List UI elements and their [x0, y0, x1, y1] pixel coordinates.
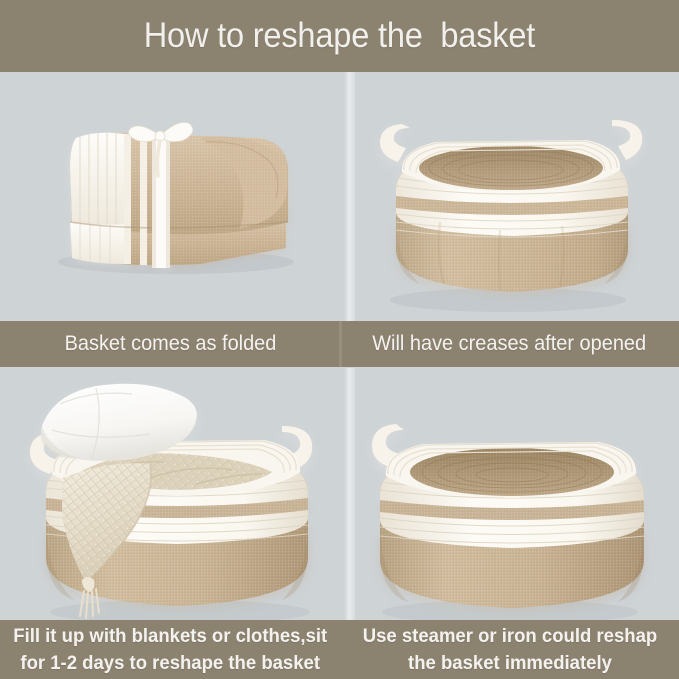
caption-divider: [339, 321, 342, 367]
caption-filled-text: Fill it up with blankets or clothes,sit …: [13, 623, 327, 677]
caption-filled: Fill it up with blankets or clothes,sit …: [0, 620, 340, 679]
panel-creased: [340, 72, 679, 321]
caption-folded-text: Basket comes as folded: [64, 330, 276, 359]
creased-basket-image: [340, 72, 679, 321]
infographic-root: How to reshape the basket: [0, 0, 679, 679]
title-bar: How to reshape the basket: [0, 0, 679, 72]
caption-steamed: Use steamer or iron could reshap the bas…: [340, 620, 679, 679]
caption-steamed-text: Use steamer or iron could reshap the bas…: [362, 623, 656, 677]
caption-creased-text: Will have creases after opened: [373, 330, 647, 359]
caption-creased: Will have creases after opened: [340, 321, 679, 367]
panel-filled: [0, 368, 340, 620]
steamed-basket-image: [340, 368, 679, 620]
panel-steamed: [340, 368, 679, 620]
page-title: How to reshape the basket: [144, 16, 535, 56]
caption-folded: Basket comes as folded: [0, 321, 340, 367]
filled-basket-image: [0, 368, 340, 620]
panel-folded: [0, 72, 340, 321]
folded-basket-image: [0, 72, 340, 321]
